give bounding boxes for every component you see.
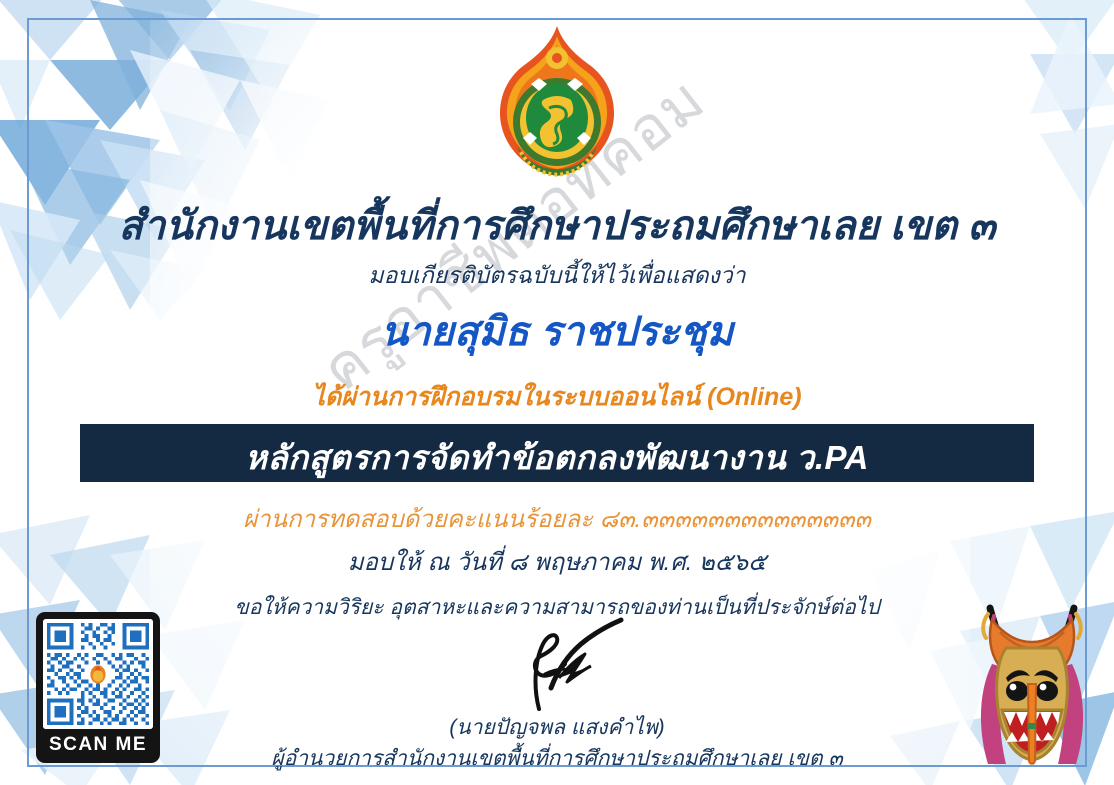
course-title: หลักสูตรการจัดทำข้อตกลงพัฒนางาน ว.PA xyxy=(80,431,1034,484)
training-mode-line: ได้ผ่านการฝึกอบรมในระบบออนไลน์ (Online) xyxy=(0,377,1114,417)
certificate-canvas: ครูอาชีพดอทคอม xyxy=(0,0,1114,785)
signatory-role: ผู้อำนวยการสำนักงานเขตพื้นที่การศึกษาประ… xyxy=(0,742,1114,775)
phi-ta-khon-mask-icon xyxy=(962,592,1102,777)
qr-code-icon[interactable] xyxy=(43,619,153,729)
course-title-banner: หลักสูตรการจัดทำข้อตกลงพัฒนางาน ว.PA xyxy=(80,424,1034,482)
qr-caption: SCAN ME xyxy=(43,729,153,763)
handwritten-signature xyxy=(495,614,645,714)
certificate-subtitle: มอบเกียรติบัตรฉบับนี้ให้ไว้เพื่อแสดงว่า xyxy=(0,258,1114,294)
score-line: ผ่านการทดสอบด้วยคะแนนร้อยละ ๘๓.๓๓๓๓๓๓๓๓๓… xyxy=(0,499,1114,538)
organization-title: สำนักงานเขตพื้นที่การศึกษาประถมศึกษาเลย … xyxy=(0,193,1114,257)
recipient-name: นายสุมิธ ราชประชุม xyxy=(0,299,1114,363)
qr-code-block[interactable]: SCAN ME xyxy=(36,612,160,763)
obec-emblem-icon xyxy=(493,22,621,182)
issue-date-line: มอบให้ ณ วันที่ ๘ พฤษภาคม พ.ศ. ๒๕๖๕ xyxy=(0,542,1114,581)
qr-center-emblem-icon xyxy=(90,665,105,683)
emblem-container xyxy=(0,22,1114,182)
signatory-name: (นายปัญจพล แสงคำไพ) xyxy=(0,711,1114,744)
